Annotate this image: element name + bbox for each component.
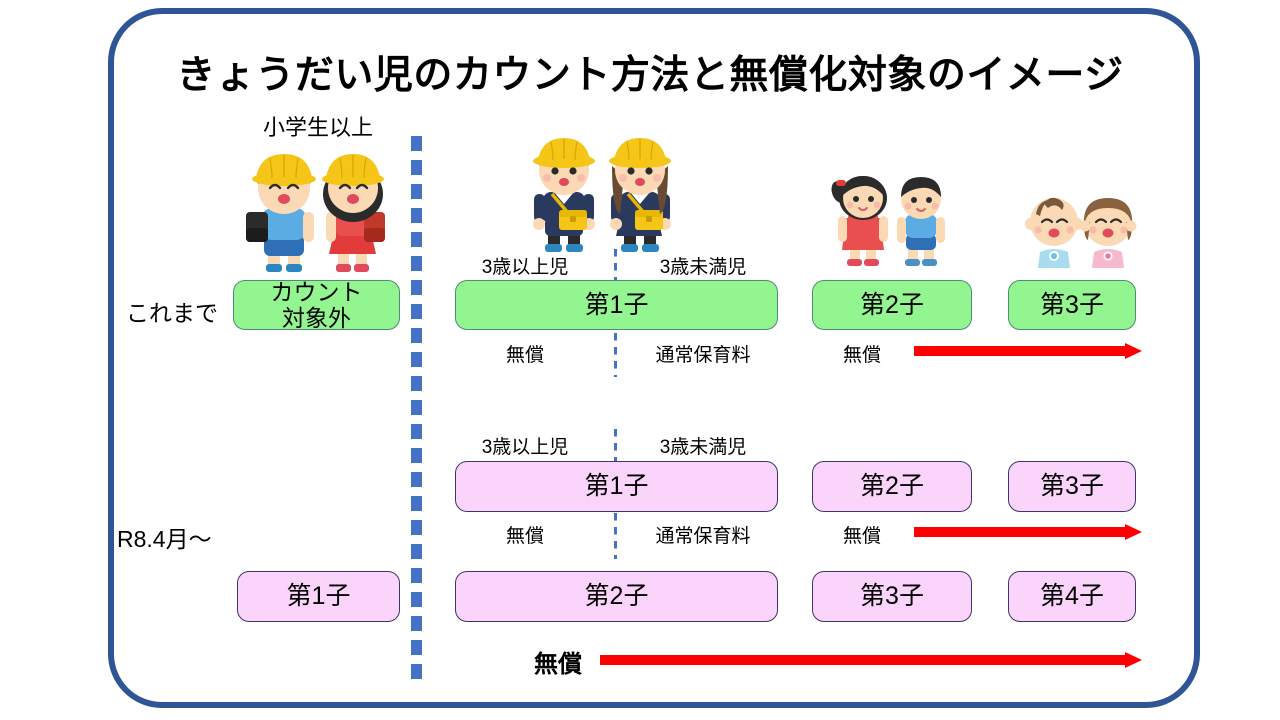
box-child1-after: 第1子 bbox=[455, 461, 778, 512]
box-child3-lower-after: 第3子 bbox=[812, 571, 972, 622]
slide-canvas: きょうだい児のカウント方法と無償化対象のイメージ 小学生以上 bbox=[0, 0, 1280, 720]
box-child2-lower-after: 第2子 bbox=[455, 571, 778, 622]
toddler-children-icon bbox=[826, 168, 964, 272]
label-elementary-or-above: 小学生以上 bbox=[263, 110, 373, 142]
vertical-dashed-separator bbox=[411, 136, 422, 682]
box-out-of-count-line2: 対象外 bbox=[282, 305, 351, 331]
free-arrow-bottom bbox=[600, 652, 1142, 668]
box-left-child1-after: 第1子 bbox=[237, 571, 400, 622]
box-child4-lower-after: 第4子 bbox=[1008, 571, 1136, 622]
age-header-over3-after: 3歳以上児 bbox=[460, 432, 590, 459]
fee-under3-before: 通常保育料 bbox=[638, 340, 768, 367]
row-label-after: R8.4月〜 bbox=[117, 520, 212, 554]
box-child2-after: 第2子 bbox=[812, 461, 972, 512]
fee-free-bottom: 無償 bbox=[534, 644, 582, 679]
fee-over3-before: 無償 bbox=[460, 340, 590, 367]
fee-free-right-before: 無償 bbox=[843, 340, 881, 367]
baby-infants-icon bbox=[1024, 188, 1144, 280]
fee-free-right-after: 無償 bbox=[843, 521, 881, 548]
free-arrow-before bbox=[914, 343, 1142, 359]
page-title: きょうだい児のカウント方法と無償化対象のイメージ bbox=[150, 44, 1150, 100]
age-header-under3-after: 3歳未満児 bbox=[638, 432, 768, 459]
box-out-of-count-line1: カウント bbox=[271, 279, 363, 305]
row-label-before: これまで bbox=[126, 294, 218, 328]
box-child1-before: 第1子 bbox=[455, 280, 778, 330]
fee-over3-after: 無償 bbox=[460, 521, 590, 548]
box-out-of-count: カウント 対象外 bbox=[233, 280, 400, 330]
box-child3-before: 第3子 bbox=[1008, 280, 1136, 330]
box-child3-after: 第3子 bbox=[1008, 461, 1136, 512]
fee-under3-after: 通常保育料 bbox=[638, 521, 768, 548]
kindergarten-children-icon bbox=[514, 134, 694, 260]
elementary-students-icon bbox=[232, 150, 408, 280]
free-arrow-after-upper bbox=[914, 524, 1142, 540]
box-child2-before: 第2子 bbox=[812, 280, 972, 330]
